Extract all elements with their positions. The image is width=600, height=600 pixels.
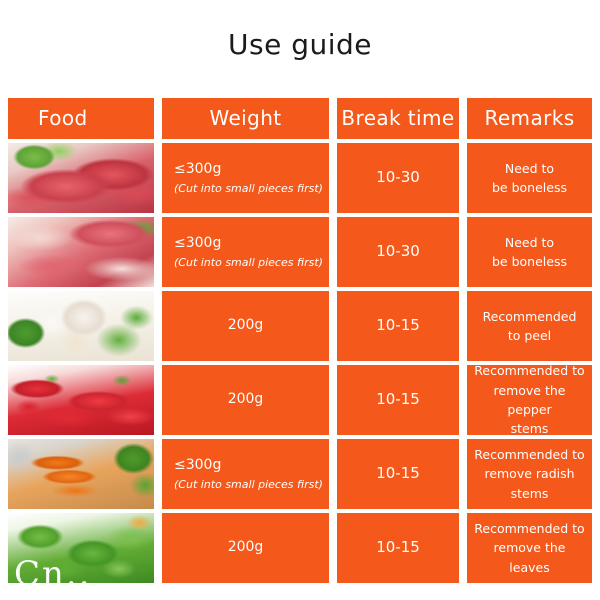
remarks-line: remove the pepper <box>473 381 586 420</box>
remarks-line: remove radish <box>484 464 574 483</box>
break-time-cell: 10-30 <box>337 143 459 213</box>
carrot-photo <box>8 439 154 509</box>
remarks-line: Need to <box>505 159 554 178</box>
weight-value: ≤300g <box>174 159 221 181</box>
food-cell <box>8 365 154 435</box>
red-pepper-photo <box>8 365 154 435</box>
column-header-food: Food <box>8 98 154 139</box>
column-header-remarks: Remarks <box>467 98 592 139</box>
table-row: ≤300g (Cut into small pieces first) 10-3… <box>8 143 592 213</box>
weight-value: 200g <box>228 389 264 411</box>
break-time-cell: 10-15 <box>337 439 459 509</box>
weight-value: 200g <box>228 315 264 337</box>
break-time-cell: 10-15 <box>337 291 459 361</box>
remarks-cell: Recommended to peel <box>467 291 592 361</box>
table-row: 200g 10-15 Recommended to peel <box>8 291 592 361</box>
food-cell <box>8 291 154 361</box>
remarks-line: remove the leaves <box>473 538 586 577</box>
remarks-line: to peel <box>508 326 551 345</box>
remarks-line: Recommended to <box>474 445 584 464</box>
food-cell <box>8 439 154 509</box>
break-time-cell: 10-15 <box>337 513 459 583</box>
garlic-photo <box>8 291 154 361</box>
weight-cell: ≤300g (Cut into small pieces first) <box>162 439 329 509</box>
remarks-cell: Recommended to remove radish stems <box>467 439 592 509</box>
table-row: 200g 10-15 Recommended to remove the lea… <box>8 513 592 583</box>
food-cell <box>8 143 154 213</box>
weight-cell: ≤300g (Cut into small pieces first) <box>162 143 329 213</box>
table-header-row: Food Weight Break time Remarks <box>8 98 592 139</box>
column-header-weight: Weight <box>162 98 329 139</box>
food-cell <box>8 217 154 287</box>
remarks-line: Need to <box>505 233 554 252</box>
table-row: ≤300g (Cut into small pieces first) 10-1… <box>8 439 592 509</box>
weight-note: (Cut into small pieces first) <box>174 476 323 493</box>
remarks-line: Recommended to <box>474 519 584 538</box>
remarks-cell: Recommended to remove the pepper stems <box>467 365 592 435</box>
remarks-cell: Need to be boneless <box>467 217 592 287</box>
weight-value: ≤300g <box>174 455 221 477</box>
remarks-line: be boneless <box>492 178 567 197</box>
weight-note: (Cut into small pieces first) <box>174 180 323 197</box>
weight-cell: 200g <box>162 365 329 435</box>
watermark: Cn.. <box>14 554 92 594</box>
beef-photo <box>8 143 154 213</box>
page-title: Use guide <box>0 28 600 61</box>
column-header-break-time: Break time <box>337 98 459 139</box>
remarks-cell: Recommended to remove the leaves <box>467 513 592 583</box>
table-row: 200g 10-15 Recommended to remove the pep… <box>8 365 592 435</box>
pork-photo <box>8 217 154 287</box>
weight-cell: 200g <box>162 291 329 361</box>
remarks-line: be boneless <box>492 252 567 271</box>
remarks-cell: Need to be boneless <box>467 143 592 213</box>
weight-value: ≤300g <box>174 233 221 255</box>
weight-note: (Cut into small pieces first) <box>174 254 323 271</box>
remarks-line: stems <box>511 419 549 435</box>
remarks-line: Recommended <box>483 307 577 326</box>
weight-cell: 200g <box>162 513 329 583</box>
use-guide-page: Use guide Food Weight Break time Remarks… <box>0 0 600 600</box>
break-time-cell: 10-15 <box>337 365 459 435</box>
break-time-cell: 10-30 <box>337 217 459 287</box>
remarks-line: Recommended to <box>474 365 584 381</box>
use-guide-table: Food Weight Break time Remarks ≤300g (Cu… <box>8 98 592 587</box>
remarks-line: stems <box>511 484 549 503</box>
table-row: ≤300g (Cut into small pieces first) 10-3… <box>8 217 592 287</box>
weight-cell: ≤300g (Cut into small pieces first) <box>162 217 329 287</box>
weight-value: 200g <box>228 537 264 559</box>
